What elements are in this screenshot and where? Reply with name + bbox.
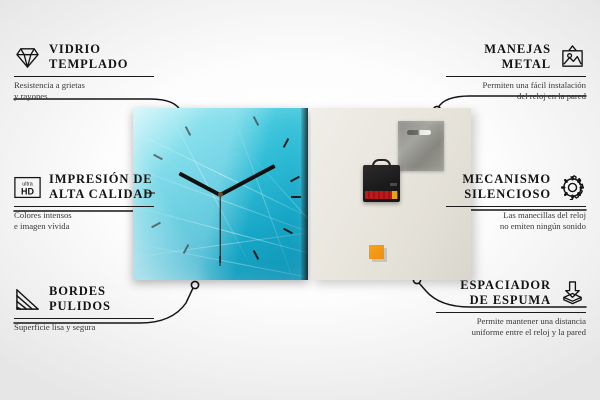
feature-subtitle: Resistencia a grietasy rayones — [14, 80, 154, 103]
node-bordes-pulidos — [191, 281, 198, 288]
clock-tick — [153, 154, 163, 160]
feature-title-line2: TEMPLADO — [49, 57, 128, 71]
feature-title-line1: ESPACIADOR — [460, 278, 551, 292]
clock-tick — [253, 116, 259, 126]
clock-tick — [291, 196, 301, 198]
feature-subtitle: Superficie lisa y segura — [14, 322, 154, 333]
feature-title-line2: SILENCIOSO — [464, 187, 551, 201]
picture-frame-hook-icon — [559, 45, 586, 70]
gear-icon — [559, 175, 586, 200]
divider — [446, 206, 586, 207]
down-arrow-pad-icon — [559, 281, 586, 306]
feature-title-line2: ALTA CALIDAD — [49, 187, 153, 201]
clock-second-hand — [219, 195, 220, 263]
clock-tick — [290, 176, 300, 182]
metal-hanger-plate — [398, 121, 444, 171]
keyhole-slot — [407, 130, 431, 135]
feature-title-line1: MECANISMO — [462, 172, 551, 186]
feature-title-line2: PULIDOS — [49, 299, 111, 313]
feature-vidrio-templado: VIDRIO TEMPLADO Resistencia a grietasy r… — [14, 42, 154, 103]
feature-title-line1: IMPRESIÓN DE — [49, 172, 153, 186]
feature-impresion-alta-calidad: ultra HD IMPRESIÓN DE ALTA CALIDAD Color… — [14, 172, 154, 233]
ultra-hd-icon: ultra HD — [14, 175, 41, 200]
divider — [14, 318, 154, 319]
clock-minute-hand — [219, 164, 276, 197]
feature-manejas-metal: MANEJAS METAL Permiten una fácil instala… — [446, 42, 586, 103]
clock-mechanism — [363, 165, 400, 202]
feature-title-line1: MANEJAS — [484, 42, 551, 56]
feature-title-line1: BORDES — [49, 284, 106, 298]
feature-subtitle: Colores intensose imagen vívida — [14, 210, 154, 233]
feature-espaciador-espuma: ESPACIADOR DE ESPUMA Permite mantener un… — [436, 278, 586, 339]
feature-bordes-pulidos: BORDES PULIDOS Superficie lisa y segura — [14, 284, 154, 333]
feature-subtitle: Permiten una fácil instalacióndel reloj … — [446, 80, 586, 103]
mechanism-loop — [372, 159, 391, 168]
polished-edges-icon — [14, 287, 41, 312]
divider — [14, 206, 154, 207]
feature-subtitle: Las manecillas del relojno emiten ningún… — [446, 210, 586, 233]
foam-spacer-pad — [369, 245, 384, 259]
mechanism-chip — [390, 183, 397, 186]
glass-edge — [301, 108, 308, 280]
clock-tick — [185, 126, 191, 136]
divider — [436, 312, 586, 313]
clock-tick — [283, 138, 289, 148]
feature-title-line2: METAL — [502, 57, 551, 71]
feature-subtitle: Permite mantener una distanciauniforme e… — [436, 316, 586, 339]
feature-title-line1: VIDRIO — [49, 42, 101, 56]
diamond-icon — [14, 45, 41, 70]
clock-face-front — [133, 108, 308, 280]
clock-tick — [253, 250, 259, 260]
clock-tick — [283, 228, 293, 234]
divider — [14, 76, 154, 77]
clock-center-pin — [218, 192, 223, 197]
divider — [446, 76, 586, 77]
infographic-canvas: VIDRIO TEMPLADO Resistencia a grietasy r… — [0, 0, 600, 400]
feature-title-line2: DE ESPUMA — [470, 293, 551, 307]
feature-mecanismo-silencioso: MECANISMO SILENCIOSO — [446, 172, 586, 233]
svg-text:HD: HD — [21, 186, 34, 196]
battery — [365, 191, 398, 199]
